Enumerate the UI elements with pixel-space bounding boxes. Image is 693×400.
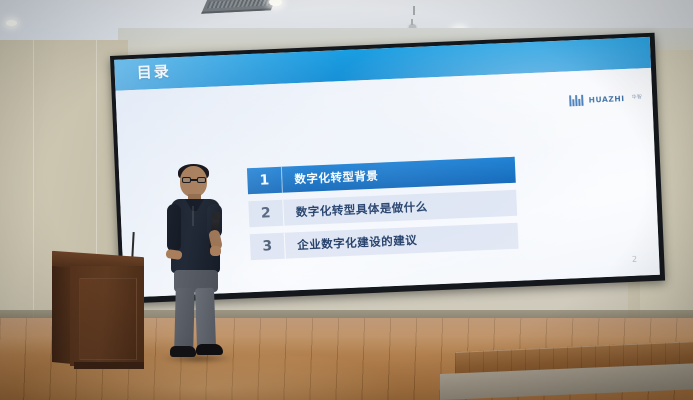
sprinkler-stem	[413, 6, 415, 15]
slide-title: 目录	[136, 60, 171, 82]
right-hand	[210, 246, 221, 256]
huazhi-logo-icon	[569, 95, 584, 107]
podium-side	[52, 266, 72, 364]
left-shoe	[170, 346, 196, 357]
presenter-figure[interactable]	[158, 166, 238, 362]
brand-subtext: 华智	[631, 93, 642, 100]
agenda-number: 1	[247, 167, 282, 194]
eyeglasses-icon	[182, 177, 206, 183]
shirt-placket	[192, 206, 194, 226]
agenda-item-3[interactable]: 3 企业数字化建设的建议	[250, 223, 519, 260]
agenda-label: 企业数字化建设的建议	[284, 223, 519, 259]
slide-page-number: 2	[632, 255, 637, 264]
agenda-number: 2	[248, 200, 283, 227]
left-hand	[165, 249, 182, 260]
right-leg	[195, 288, 216, 349]
podium-front	[70, 266, 144, 366]
agenda-item-1[interactable]: 1 数字化转型背景	[247, 157, 516, 194]
podium-base	[74, 362, 144, 369]
right-shoe	[196, 344, 223, 355]
agenda-item-2[interactable]: 2 数字化转型具体是做什么	[248, 190, 517, 227]
wall-panel-seam	[33, 40, 34, 330]
left-leg	[174, 288, 195, 350]
agenda-label: 数字化转型背景	[281, 157, 516, 193]
presentation-scene: 目录 HUAZHI 华智 1 数字化转型背景 2 数字	[0, 0, 693, 400]
agenda-list: 1 数字化转型背景 2 数字化转型具体是做什么 3 企业数字化建设的建议	[247, 157, 519, 267]
agenda-label: 数字化转型具体是做什么	[282, 190, 517, 226]
ceiling-downlight	[6, 20, 17, 26]
wooden-podium[interactable]	[52, 254, 144, 366]
agenda-number: 3	[250, 233, 285, 260]
brand-logo: HUAZHI 华智	[569, 92, 642, 106]
brand-name: HUAZHI	[588, 94, 624, 105]
left-arm	[167, 204, 181, 252]
